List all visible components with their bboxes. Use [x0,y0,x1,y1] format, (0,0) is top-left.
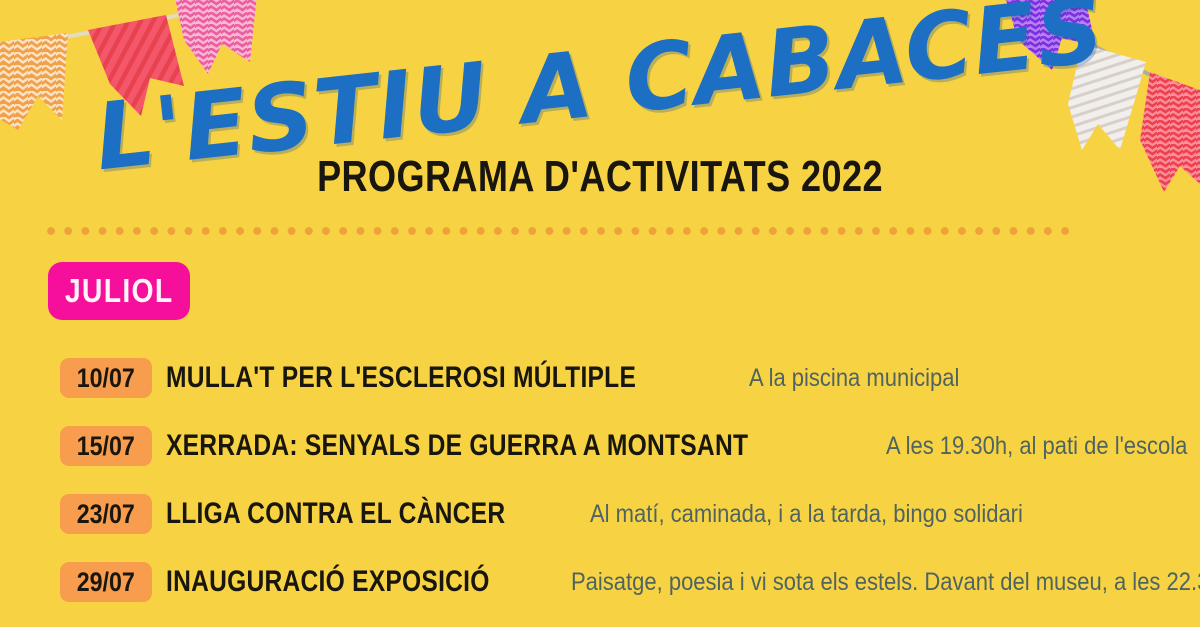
month-badge-juliol: JULIOL [48,262,190,320]
poster-canvas: L'ESTIU A CABACÉS PROGRAMA D'ACTIVITATS … [0,0,1200,627]
event-row: 15/07 XERRADA: SENYALS DE GUERRA A MONTS… [0,412,1200,480]
event-description: Al matí, caminada, i a la tarda, bingo s… [590,500,1023,529]
event-title: LLIGA CONTRA EL CÀNCER [166,497,505,531]
page-subtitle: PROGRAMA D'ACTIVITATS 2022 [108,152,1092,202]
event-date-label: 10/07 [77,363,135,394]
event-date-badge: 29/07 [60,562,152,602]
event-title: MULLA'T PER L'ESCLEROSI MÚLTIPLE [166,361,636,395]
month-badge-label: JULIOL [65,272,174,310]
event-description: A les 19.30h, al pati de l'escola [886,432,1187,461]
event-row: 23/07 LLIGA CONTRA EL CÀNCER Al matí, ca… [0,480,1200,548]
event-row: 10/07 MULLA'T PER L'ESCLEROSI MÚLTIPLE A… [0,344,1200,412]
event-description: Paisatge, poesia i vi sota els estels. D… [571,568,1200,597]
title-block: L'ESTIU A CABACÉS [0,10,1200,170]
event-row: 29/07 INAUGURACIÓ EXPOSICIÓ Paisatge, po… [0,548,1200,616]
event-list: 10/07 MULLA'T PER L'ESCLEROSI MÚLTIPLE A… [0,344,1200,627]
event-date-label: 23/07 [77,499,135,530]
dotted-divider [46,226,1074,236]
event-title: INAUGURACIÓ EXPOSICIÓ [166,565,490,599]
event-date-badge: 10/07 [60,358,152,398]
event-row-partial [0,616,1200,627]
event-description: A la piscina municipal [749,364,959,393]
event-title: XERRADA: SENYALS DE GUERRA A MONTSANT [166,429,748,463]
event-date-badge: 23/07 [60,494,152,534]
event-date-badge: 15/07 [60,426,152,466]
event-date-label: 29/07 [77,567,135,598]
event-date-label: 15/07 [77,431,135,462]
